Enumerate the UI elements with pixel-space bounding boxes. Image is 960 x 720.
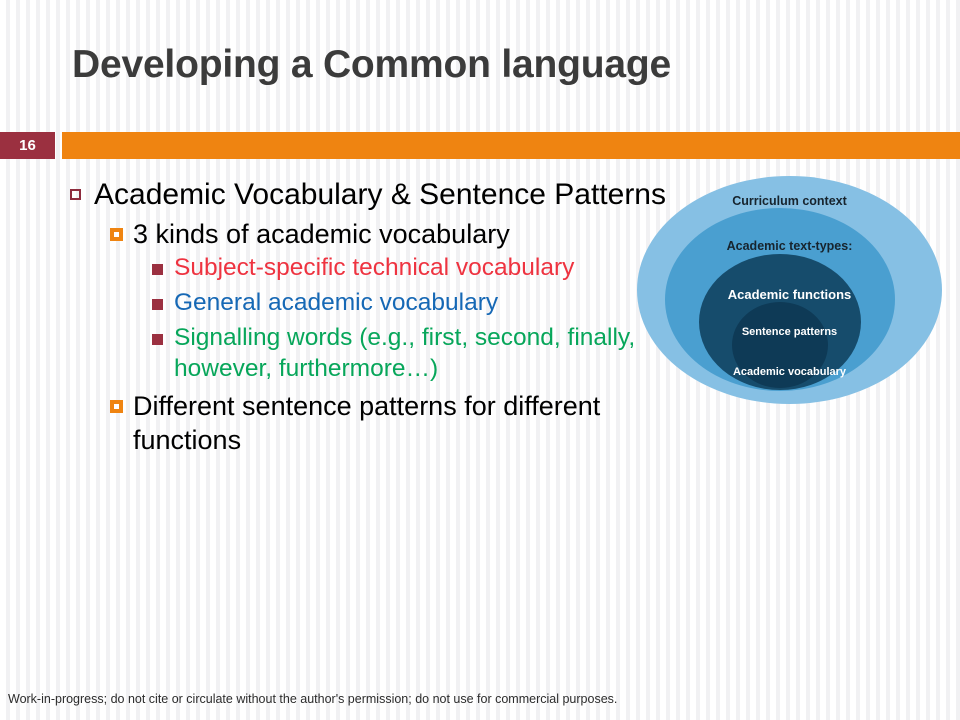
slide-number-badge: 16 [0,132,55,159]
list-item: Different sentence patterns for differen… [110,389,670,457]
footer-disclaimer: Work-in-progress; do not cite or circula… [8,692,617,706]
list-item: Subject-specific technical vocabulary [152,253,670,284]
bullet-list: Academic Vocabulary & Sentence Patterns … [70,176,670,459]
bullet-text: Academic Vocabulary & Sentence Patterns [94,176,670,213]
diagram-label-sentence-patterns: Sentence patterns [637,326,942,339]
list-item: 3 kinds of academic vocabulary [110,217,670,251]
list-item: Academic Vocabulary & Sentence Patterns [70,176,670,213]
orange-square-bullet-icon [110,228,123,241]
bullet-text: Subject-specific technical vocabulary [174,253,670,284]
diagram-label-academic-functions: Academic functions [637,288,942,303]
bullet-text: General academic vocabulary [174,288,670,319]
bullet-text: 3 kinds of academic vocabulary [133,217,670,251]
maroon-square-bullet-icon [152,334,163,345]
bullet-text: Different sentence patterns for differen… [133,389,670,457]
diagram-label-curriculum-context: Curriculum context [637,194,942,208]
list-item: General academic vocabulary [152,288,670,319]
accent-bar [62,132,960,159]
slide-canvas: Developing a Common language 16 Academic… [0,0,960,720]
bullet-text: Signalling words (e.g., first, second, f… [174,323,670,385]
page-title: Developing a Common language [72,44,892,87]
maroon-square-bullet-icon [152,299,163,310]
maroon-square-bullet-icon [152,264,163,275]
hollow-square-bullet-icon [70,189,81,200]
list-item: Signalling words (e.g., first, second, f… [152,323,670,385]
nested-ellipse-diagram: Curriculum context Academic text-types: … [637,176,942,404]
diagram-label-academic-text-types: Academic text-types: [637,239,942,253]
orange-square-bullet-icon [110,400,123,413]
diagram-label-academic-vocabulary: Academic vocabulary [637,366,942,379]
